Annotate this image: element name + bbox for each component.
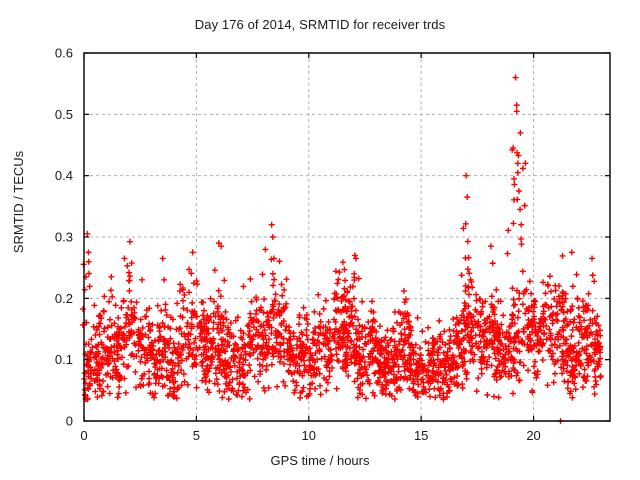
data-point (293, 379, 299, 385)
data-point (273, 291, 279, 297)
data-point (318, 391, 324, 397)
data-point (493, 370, 499, 376)
data-point (480, 304, 486, 310)
data-point (82, 287, 88, 293)
data-point (369, 298, 375, 304)
data-point (270, 282, 276, 288)
data-point (576, 313, 582, 319)
data-point (462, 300, 468, 306)
data-point (260, 271, 266, 277)
data-point (189, 300, 195, 306)
data-point (547, 273, 553, 279)
data-point (574, 272, 580, 278)
data-points-group (80, 75, 604, 424)
data-point (161, 277, 167, 283)
data-point (297, 395, 303, 401)
data-point (290, 378, 296, 384)
data-point (127, 239, 133, 245)
data-point (525, 367, 531, 373)
data-point (317, 311, 323, 317)
data-point (133, 384, 139, 390)
data-point (465, 239, 471, 245)
data-point (174, 300, 180, 306)
data-point (466, 292, 472, 298)
data-point (355, 317, 361, 323)
data-point (511, 176, 517, 182)
data-point (354, 336, 360, 342)
data-point (115, 315, 121, 321)
data-point (124, 263, 130, 269)
data-point (589, 255, 595, 261)
data-point (296, 321, 302, 327)
data-point (252, 373, 258, 379)
data-point (352, 252, 358, 258)
data-point (108, 287, 114, 293)
data-point (590, 308, 596, 314)
data-point (211, 299, 217, 305)
data-point (515, 160, 521, 166)
data-point (493, 287, 499, 293)
data-point (592, 391, 598, 397)
data-point (522, 203, 528, 209)
data-point (551, 379, 557, 385)
data-point (200, 312, 206, 318)
data-point (326, 373, 332, 379)
x-axis-tick-label: 0 (80, 428, 87, 443)
data-point (505, 227, 511, 233)
data-point (120, 299, 126, 305)
data-point (565, 385, 571, 391)
data-point (426, 386, 432, 392)
data-point (115, 394, 121, 400)
data-point (365, 319, 371, 325)
chart-figure: Day 176 of 2014, SRMTID for receiver trd… (0, 0, 640, 480)
data-point (216, 388, 222, 394)
data-point (519, 241, 525, 247)
y-axis-tick-label: 0.2 (55, 291, 73, 306)
data-point (340, 259, 346, 265)
data-point (436, 318, 442, 324)
data-point (206, 378, 212, 384)
data-point (215, 381, 221, 387)
data-point (160, 255, 166, 261)
data-point (505, 251, 511, 257)
x-axis-tick-label: 5 (193, 428, 200, 443)
data-point (107, 317, 113, 323)
data-point (552, 371, 558, 377)
data-point (488, 243, 494, 249)
data-point (262, 246, 268, 252)
data-point (118, 305, 124, 311)
data-point (516, 296, 522, 302)
data-point (586, 291, 592, 297)
data-point (514, 108, 520, 114)
data-point (496, 395, 502, 401)
data-point (270, 271, 276, 277)
data-point (510, 220, 516, 226)
data-point (160, 374, 166, 380)
data-point (423, 339, 429, 345)
data-point (305, 337, 311, 343)
data-point (91, 302, 97, 308)
data-point (463, 173, 469, 179)
data-point (274, 384, 280, 390)
data-point (517, 130, 523, 136)
data-point (315, 292, 321, 298)
x-axis-tick-label: 20 (526, 428, 540, 443)
data-point (466, 270, 472, 276)
data-point (363, 395, 369, 401)
data-point (126, 270, 132, 276)
y-axis-tick-label: 0.3 (55, 230, 73, 245)
data-point (246, 362, 252, 368)
data-point (87, 283, 93, 289)
data-point (401, 288, 407, 294)
data-point (511, 182, 517, 188)
data-point (520, 165, 526, 171)
data-point (535, 371, 541, 377)
data-point (281, 287, 287, 293)
data-point (232, 341, 238, 347)
data-point (540, 357, 546, 363)
data-point (279, 281, 285, 287)
data-point (546, 326, 552, 332)
data-point (353, 307, 359, 313)
data-point (459, 272, 465, 278)
y-axis-tick-label: 0.5 (55, 107, 73, 122)
x-axis-label: GPS time / hours (0, 453, 640, 468)
data-point (342, 277, 348, 283)
data-point (377, 323, 383, 329)
data-point (545, 382, 551, 388)
data-point (598, 373, 604, 379)
data-point (569, 249, 575, 255)
data-point (276, 258, 282, 264)
data-point (497, 374, 503, 380)
data-point (106, 299, 112, 305)
data-point (582, 366, 588, 372)
data-point (155, 303, 161, 309)
data-point (311, 309, 317, 315)
y-axis-label: SRMTID / TECUs (11, 151, 26, 253)
data-point (182, 379, 188, 385)
data-point (113, 302, 119, 308)
data-point (392, 396, 398, 402)
data-point (221, 277, 227, 283)
x-axis-tick-label: 10 (302, 428, 316, 443)
data-point (219, 395, 225, 401)
data-point (590, 272, 596, 278)
data-point (261, 296, 267, 302)
data-point (92, 389, 98, 395)
data-point (132, 369, 138, 375)
data-point (247, 276, 253, 282)
data-point (129, 260, 135, 266)
data-point (101, 309, 107, 315)
data-point (419, 328, 425, 334)
data-point (560, 253, 566, 259)
data-point (266, 385, 272, 391)
data-point (201, 308, 207, 314)
data-point (241, 283, 247, 289)
data-point (127, 273, 133, 279)
data-point (541, 331, 547, 337)
chart-title: Day 176 of 2014, SRMTID for receiver trd… (0, 17, 640, 32)
data-point (425, 325, 431, 331)
data-point (543, 290, 549, 296)
data-point (448, 333, 454, 339)
data-point (427, 394, 433, 400)
data-point (86, 270, 92, 276)
data-point (334, 280, 340, 286)
x-axis-tick-label: 15 (414, 428, 428, 443)
data-point (283, 276, 289, 282)
data-point (199, 360, 205, 366)
data-point (139, 277, 145, 283)
data-point (210, 326, 216, 332)
data-point (415, 315, 421, 321)
data-point (181, 371, 187, 377)
data-point (417, 345, 423, 351)
data-point (109, 294, 115, 300)
data-point (475, 375, 481, 381)
data-point (212, 267, 218, 273)
data-point (269, 222, 275, 228)
data-point (237, 355, 243, 361)
data-point (580, 384, 586, 390)
data-point (479, 371, 485, 377)
data-point (213, 370, 219, 376)
data-point (334, 386, 340, 392)
data-point (271, 277, 277, 283)
data-point (516, 308, 522, 314)
data-point (531, 363, 537, 369)
data-point (80, 306, 86, 312)
data-point (263, 367, 269, 373)
data-point (163, 301, 169, 307)
data-point (138, 317, 144, 323)
data-point (535, 349, 541, 355)
data-point (517, 206, 523, 212)
data-point (450, 316, 456, 322)
data-point (511, 197, 517, 203)
data-point (185, 382, 191, 388)
data-point (97, 320, 103, 326)
data-point (353, 255, 359, 261)
data-point (317, 383, 323, 389)
data-point (107, 390, 113, 396)
y-axis-tick-label: 0.4 (55, 168, 73, 183)
data-point (203, 379, 209, 385)
data-point (548, 288, 554, 294)
data-point (568, 333, 574, 339)
data-point (522, 160, 528, 166)
data-point (359, 299, 365, 305)
data-point (352, 379, 358, 385)
data-point (134, 299, 140, 305)
data-point (300, 385, 306, 391)
data-point (276, 301, 282, 307)
y-axis-tick-label: 0.1 (55, 352, 73, 367)
data-point (255, 379, 261, 385)
data-point (253, 311, 259, 317)
data-point (465, 266, 471, 272)
data-point (515, 170, 521, 176)
data-point (270, 234, 276, 240)
data-point (85, 249, 91, 255)
data-point (463, 255, 469, 261)
data-point (222, 309, 228, 315)
data-point (473, 292, 479, 298)
data-point (305, 321, 311, 327)
data-point (500, 312, 506, 318)
data-point (123, 390, 129, 396)
y-axis-tick-label: 0 (66, 414, 73, 429)
data-point (334, 357, 340, 363)
data-point (570, 283, 576, 289)
data-point (591, 278, 597, 284)
data-point (396, 369, 402, 375)
data-point (520, 301, 526, 307)
data-point (576, 305, 582, 311)
data-point (108, 274, 114, 280)
data-point (593, 378, 599, 384)
data-point (228, 369, 234, 375)
data-point (226, 396, 232, 402)
plot-canvas: 00.10.20.30.40.50.605101520 (0, 0, 640, 480)
data-point (333, 268, 339, 274)
data-point (128, 299, 134, 305)
data-point (177, 288, 183, 294)
data-point (86, 259, 92, 265)
data-point (464, 194, 470, 200)
data-point (194, 385, 200, 391)
data-point (516, 188, 522, 194)
data-point (575, 296, 581, 302)
data-point (269, 362, 275, 368)
data-point (510, 391, 516, 397)
data-point (158, 308, 164, 314)
data-point (121, 255, 127, 261)
data-point (491, 394, 497, 400)
data-point (597, 355, 603, 361)
data-point (151, 395, 157, 401)
data-point (323, 388, 329, 394)
data-point (100, 378, 106, 384)
data-point (513, 75, 519, 81)
data-point (162, 307, 168, 313)
data-point (384, 327, 390, 333)
data-point (446, 340, 452, 346)
data-point (474, 388, 480, 394)
data-point (576, 340, 582, 346)
data-point (484, 392, 490, 398)
data-point (171, 340, 177, 346)
data-point (511, 303, 517, 309)
data-point (321, 306, 327, 312)
data-point (490, 260, 496, 266)
data-point (532, 359, 538, 365)
data-point (216, 288, 222, 294)
y-axis-tick-label: 0.6 (55, 46, 73, 61)
data-point (527, 278, 533, 284)
data-point (351, 271, 357, 277)
data-point (247, 328, 253, 334)
data-point (301, 305, 307, 311)
data-point (518, 222, 524, 228)
data-point (577, 314, 583, 320)
data-point (142, 314, 148, 320)
data-point (116, 391, 122, 397)
data-point (323, 298, 329, 304)
data-point (514, 102, 520, 108)
data-point (317, 325, 323, 331)
y-axis-label-wrapper: SRMTID / TECUs (10, 92, 28, 312)
data-point (199, 363, 205, 369)
data-point (190, 249, 196, 255)
data-point (116, 384, 122, 390)
data-point (175, 385, 181, 391)
data-point (520, 268, 526, 274)
data-point (247, 396, 253, 402)
data-point (326, 319, 332, 325)
data-point (521, 363, 527, 369)
data-point (312, 386, 318, 392)
data-point (552, 283, 558, 289)
data-point (84, 231, 90, 237)
data-point (101, 328, 107, 334)
data-point (126, 288, 132, 294)
data-point (571, 320, 577, 326)
data-point (105, 384, 111, 390)
data-point (208, 296, 214, 302)
data-point (336, 358, 342, 364)
data-point (335, 277, 341, 283)
